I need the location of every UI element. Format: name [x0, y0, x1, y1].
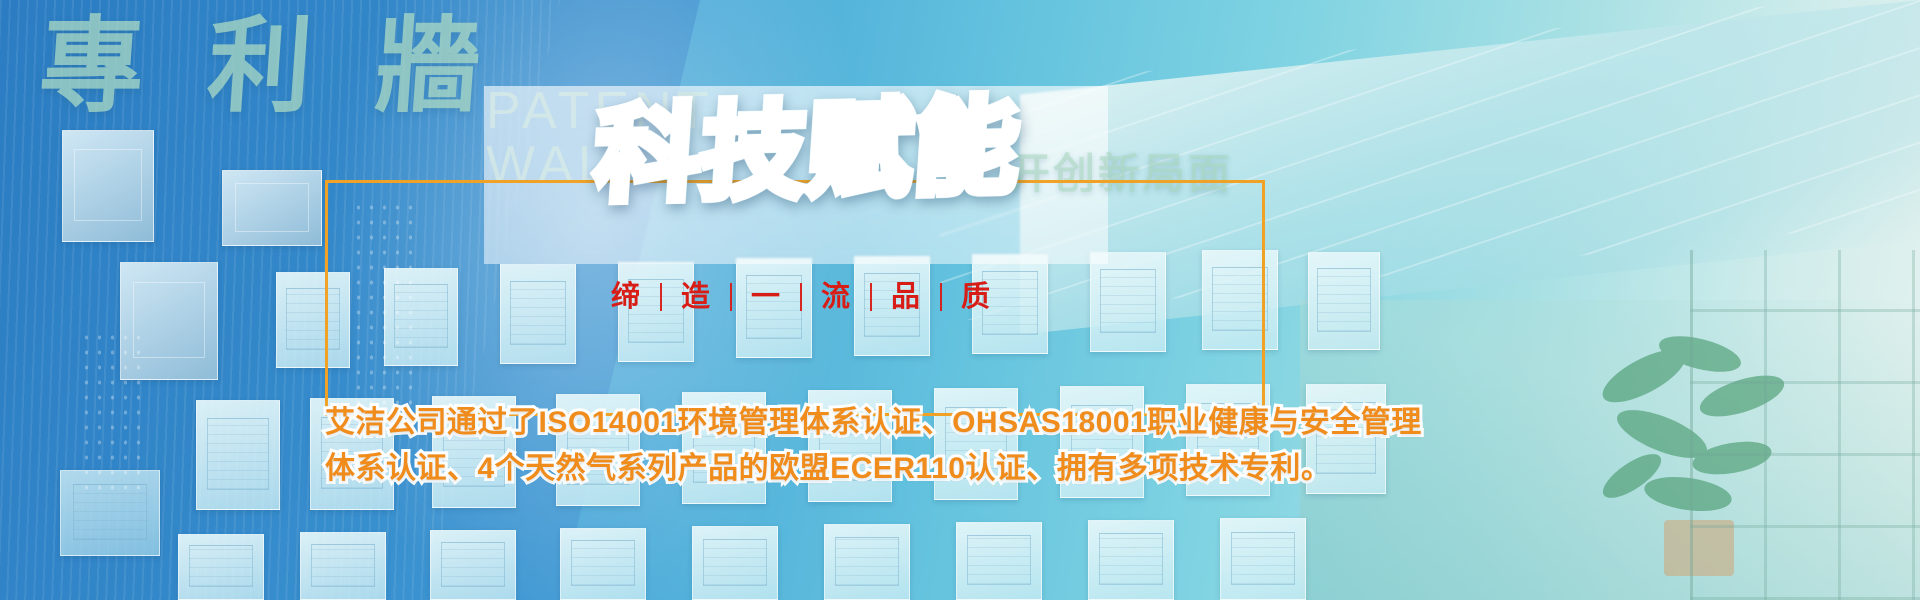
certificate-frame	[824, 524, 910, 600]
certificate-frame	[692, 526, 778, 600]
shelving-decoration	[1690, 250, 1920, 600]
quality-char-6: 质	[942, 282, 1010, 311]
certificate-frame	[560, 528, 646, 600]
quality-char-4: 流	[802, 282, 870, 311]
body-paragraph-line-1: 艾洁公司通过了ISO14001环境管理体系认证、OHSAS18001职业健康与安…	[325, 400, 1265, 446]
quality-char-2: 造	[662, 282, 730, 311]
quality-separator	[870, 283, 872, 311]
page-title: 科技赋能	[592, 92, 1024, 211]
hero-banner: 專 利 牆 PATENT WALL 开创新局面 科技赋能 缔 造 一 流 品 质…	[0, 0, 1920, 600]
certificate-frame	[1308, 252, 1380, 350]
quality-char-1: 缔	[592, 282, 660, 311]
quality-char-3: 一	[732, 282, 800, 311]
quality-slogan: 缔 造 一 流 品 质	[592, 282, 1010, 311]
quality-separator	[660, 283, 662, 311]
certificate-frame	[1220, 518, 1306, 600]
watermark-char-1: 專	[36, 14, 151, 118]
quality-separator	[800, 283, 802, 311]
body-paragraph: 艾洁公司通过了ISO14001环境管理体系认证、OHSAS18001职业健康与安…	[325, 400, 1265, 491]
watermark-char-3: 牆	[372, 14, 487, 118]
watermark-char-2: 利	[204, 14, 319, 118]
body-paragraph-line-2: 体系认证、4个天然气系列产品的欧盟ECER110认证、拥有多项技术专利。	[325, 446, 1265, 492]
certificate-frame	[1088, 520, 1174, 600]
watermark-chinese: 專 利 牆	[36, 14, 487, 118]
certificate-frame	[178, 534, 264, 600]
certificate-frame	[956, 522, 1042, 600]
certificate-frame	[62, 130, 154, 242]
quality-char-5: 品	[872, 282, 940, 311]
certificate-frame	[300, 532, 386, 600]
quality-separator	[940, 283, 942, 311]
led-dot-column	[80, 330, 150, 490]
quality-separator	[730, 283, 732, 311]
certificate-frame	[430, 530, 516, 600]
certificate-frame	[196, 400, 280, 510]
certificate-frame	[222, 170, 322, 246]
